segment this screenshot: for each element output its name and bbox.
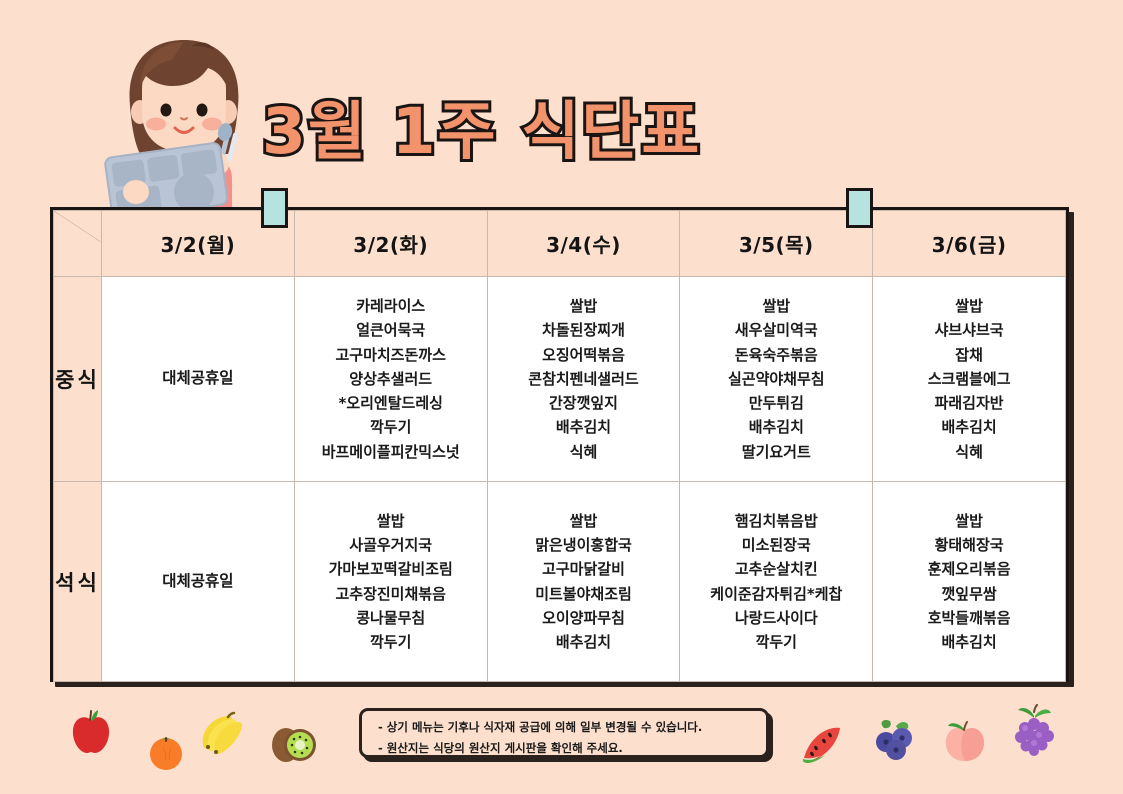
corner-cell — [54, 211, 102, 277]
diagonal-slash-icon — [54, 211, 101, 242]
menu-table: 3/2(월) 3/2(화) 3/4(수) 3/5(목) 3/6(금) 중식 대체… — [53, 210, 1066, 682]
orange-icon — [145, 730, 187, 772]
day-header-tue: 3/2(화) — [294, 211, 487, 277]
note-box: - 상기 메뉴는 기후나 식자재 공급에 의해 일부 변경될 수 있습니다. -… — [359, 708, 769, 758]
row-label-lunch: 중식 — [54, 277, 102, 482]
tape-decoration-right — [846, 188, 873, 228]
apple-icon — [68, 708, 114, 756]
tape-decoration-left — [261, 188, 288, 228]
note-line-2: - 원산지는 식당의 원산지 게시판을 확인해 주세요. — [378, 738, 756, 759]
menu-cell-lunch-wed: 쌀밥 차돌된장찌개 오징어떡볶음 콘참치펜네샐러드 간장깻잎지 배추김치 식혜 — [487, 277, 680, 482]
day-header-fri: 3/6(금) — [873, 211, 1066, 277]
menu-cell-lunch-mon: 대체공휴일 — [102, 277, 295, 482]
page-title: 3월 1주 식단표 — [262, 78, 762, 174]
banana-icon — [195, 710, 249, 754]
watermelon-icon — [800, 722, 846, 764]
peach-icon — [942, 718, 988, 762]
row-label-dinner: 석식 — [54, 482, 102, 682]
menu-cell-dinner-thu: 햄김치볶음밥 미소된장국 고추순살치킨 케이준감자튀김*케찹 나랑드사이다 깍두… — [680, 482, 873, 682]
mascot-girl-illustration — [96, 28, 272, 210]
kiwi-icon — [270, 726, 316, 764]
menu-cell-dinner-wed: 쌀밥 맑은냉이홍합국 고구마닭갈비 미트볼야채조림 오이양파무침 배추김치 — [487, 482, 680, 682]
day-header-thu: 3/5(목) — [680, 211, 873, 277]
table-row-lunch: 중식 대체공휴일 카레라이스 얼큰어묵국 고구마치즈돈까스 양상추샐러드 *오리… — [54, 277, 1066, 482]
page-title-text: 3월 1주 식단표 — [262, 81, 701, 172]
note-line-1: - 상기 메뉴는 기후나 식자재 공급에 의해 일부 변경될 수 있습니다. — [378, 717, 756, 738]
menu-cell-lunch-fri: 쌀밥 샤브샤브국 잡채 스크램블에그 파래김자반 배추김치 식혜 — [873, 277, 1066, 482]
menu-poster: 3월 1주 식단표 3/2(월) 3/2(화) 3/4(수) 3/5(목) — [0, 0, 1123, 794]
blueberry-icon — [872, 716, 918, 760]
table-row-dinner: 석식 대체공휴일 쌀밥 사골우거지국 가마보꼬떡갈비조림 고추장진미채볶음 콩나… — [54, 482, 1066, 682]
menu-cell-dinner-fri: 쌀밥 황태해장국 훈제오리볶음 깻잎무쌈 호박들깨볶음 배추김치 — [873, 482, 1066, 682]
menu-cell-lunch-thu: 쌀밥 새우살미역국 돈육숙주볶음 실곤약야채무침 만두튀김 배추김치 딸기요거트 — [680, 277, 873, 482]
table-header-row: 3/2(월) 3/2(화) 3/4(수) 3/5(목) 3/6(금) — [54, 211, 1066, 277]
menu-table-body: 중식 대체공휴일 카레라이스 얼큰어묵국 고구마치즈돈까스 양상추샐러드 *오리… — [54, 277, 1066, 682]
menu-cell-dinner-tue: 쌀밥 사골우거지국 가마보꼬떡갈비조림 고추장진미채볶음 콩나물무침 깍두기 — [294, 482, 487, 682]
menu-table-container: 3/2(월) 3/2(화) 3/4(수) 3/5(목) 3/6(금) 중식 대체… — [50, 207, 1069, 682]
poster-header: 3월 1주 식단표 — [0, 0, 1123, 200]
day-header-wed: 3/4(수) — [487, 211, 680, 277]
menu-cell-lunch-tue: 카레라이스 얼큰어묵국 고구마치즈돈까스 양상추샐러드 *오리엔탈드레싱 깍두기… — [294, 277, 487, 482]
grapes-icon — [1010, 704, 1058, 756]
menu-cell-dinner-mon: 대체공휴일 — [102, 482, 295, 682]
